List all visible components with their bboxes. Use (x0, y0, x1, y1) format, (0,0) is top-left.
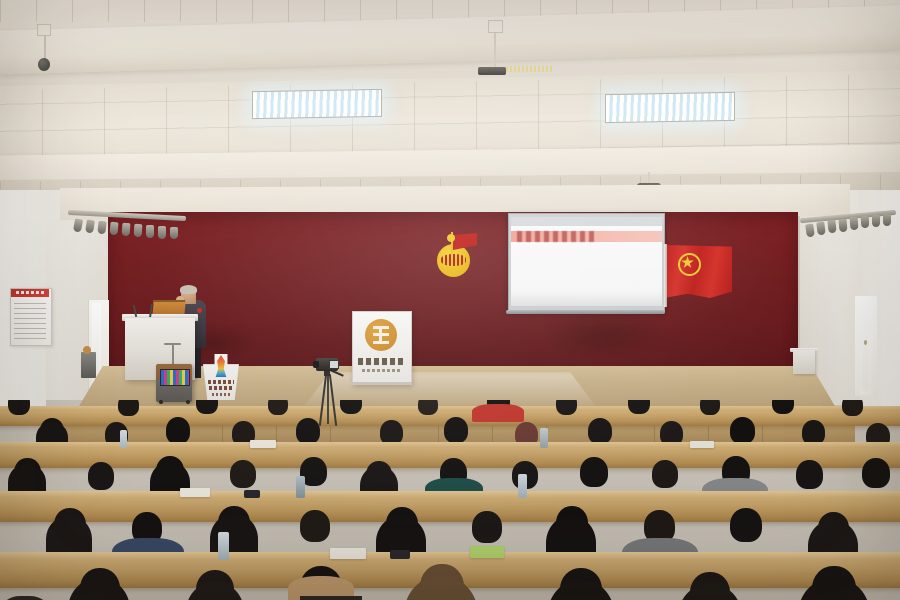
sign-text-line-1 (208, 380, 234, 384)
tripod-leg (327, 374, 329, 424)
poster-header-text (16, 291, 44, 294)
stage-lamp (134, 224, 143, 237)
stage-lamp (883, 214, 891, 226)
doorway-right-light (860, 299, 871, 394)
door-handle[interactable] (864, 340, 867, 345)
wall-scuff-mark (538, 308, 668, 360)
student-head (230, 460, 256, 488)
poster-body-text (14, 301, 46, 339)
communist-youth-league-flag (667, 245, 732, 298)
notebook[interactable] (690, 441, 714, 448)
student-head (0, 596, 50, 600)
fluorescent-light-panel-right (605, 92, 735, 123)
sign-text-line-3 (212, 393, 230, 396)
presenter-hair (180, 285, 197, 294)
screen-top-band (511, 217, 662, 226)
communist-youth-league-emblem (435, 232, 479, 278)
waste-bin (81, 352, 96, 378)
projection-screen-surface (511, 217, 662, 306)
stage-lamp (158, 226, 166, 239)
student-head (588, 418, 612, 444)
stage-lamp (805, 224, 815, 238)
thermos[interactable] (296, 476, 305, 498)
emblem-inscription (441, 254, 466, 266)
pa-trolley-led-display (160, 369, 190, 386)
stage-lamp (122, 223, 131, 237)
screen-weight-bar (506, 310, 665, 314)
stage-lamp (827, 220, 836, 234)
flag-pole (664, 244, 667, 307)
stage-lamp (838, 219, 847, 233)
desk-row-top (0, 442, 900, 448)
green-folder[interactable] (470, 546, 504, 558)
student-head (296, 418, 320, 444)
student-head (556, 400, 577, 415)
desk-row-top (0, 491, 900, 498)
student-head (700, 400, 720, 415)
student-head (88, 462, 114, 490)
stage-lamp (146, 225, 154, 238)
white-stool (793, 350, 815, 374)
pa-trolley-handle-stem[interactable] (172, 344, 174, 366)
slide-title-text (517, 231, 597, 242)
student-head (340, 400, 362, 414)
student-head (796, 460, 823, 489)
notebook[interactable] (180, 488, 210, 497)
student-head (418, 400, 438, 415)
banner-logo-glyph (373, 326, 389, 344)
camera-lens (313, 361, 319, 368)
stage-lamp (170, 227, 178, 239)
pa-trolley-handle-grip[interactable] (164, 343, 181, 345)
emblem-star (447, 234, 455, 242)
notebook[interactable] (330, 548, 366, 559)
security-camera (38, 58, 50, 71)
student-head (842, 400, 863, 416)
emblem-red-flag (453, 233, 477, 250)
student-head (580, 457, 608, 487)
water-bottle[interactable] (518, 474, 527, 498)
student-head (628, 400, 650, 414)
smartphone[interactable] (244, 490, 260, 498)
fluorescent-light-panel-left (252, 89, 382, 119)
banner-chinese-text (358, 358, 404, 365)
student-head (196, 400, 218, 414)
student-torso-red (472, 404, 524, 422)
camera-mount-bracket (37, 24, 51, 36)
projector-ceiling-plate (488, 20, 503, 33)
student-head (166, 417, 190, 444)
student-head (300, 510, 330, 542)
water-bottle[interactable] (218, 532, 229, 560)
student-head (444, 417, 468, 443)
ceiling-projector (478, 67, 506, 75)
desk-row-top (0, 552, 900, 560)
student-head (652, 460, 678, 488)
lecture-hall-photo (0, 0, 900, 600)
ceiling-cable-bundle (506, 66, 552, 72)
bin-contents (83, 346, 91, 354)
thermos[interactable] (540, 428, 548, 448)
banner-base (350, 382, 412, 385)
camera-lcd-screen (329, 360, 339, 369)
cap-under-hair (300, 596, 362, 600)
stage-lamp (850, 217, 859, 231)
student-head (730, 417, 755, 444)
water-bottle[interactable] (120, 430, 127, 448)
stage-lamp (816, 222, 826, 236)
student-head (472, 511, 502, 543)
student-head (772, 400, 794, 414)
projection-screen (508, 213, 665, 312)
presenter-lapel-badge (197, 308, 202, 313)
student-head (8, 400, 30, 415)
student-head (730, 508, 762, 542)
sign-text-line-2 (209, 386, 233, 390)
stage-lamp (872, 215, 880, 227)
stage-lamp (861, 216, 870, 228)
screen-bottom-shadow (511, 291, 662, 306)
banner-latin-text (362, 369, 400, 372)
student-head (268, 400, 288, 415)
student-audience (0, 400, 900, 600)
smartphone[interactable] (390, 550, 410, 559)
notebook[interactable] (250, 440, 276, 448)
student-head (118, 400, 139, 416)
student-head (862, 458, 890, 488)
